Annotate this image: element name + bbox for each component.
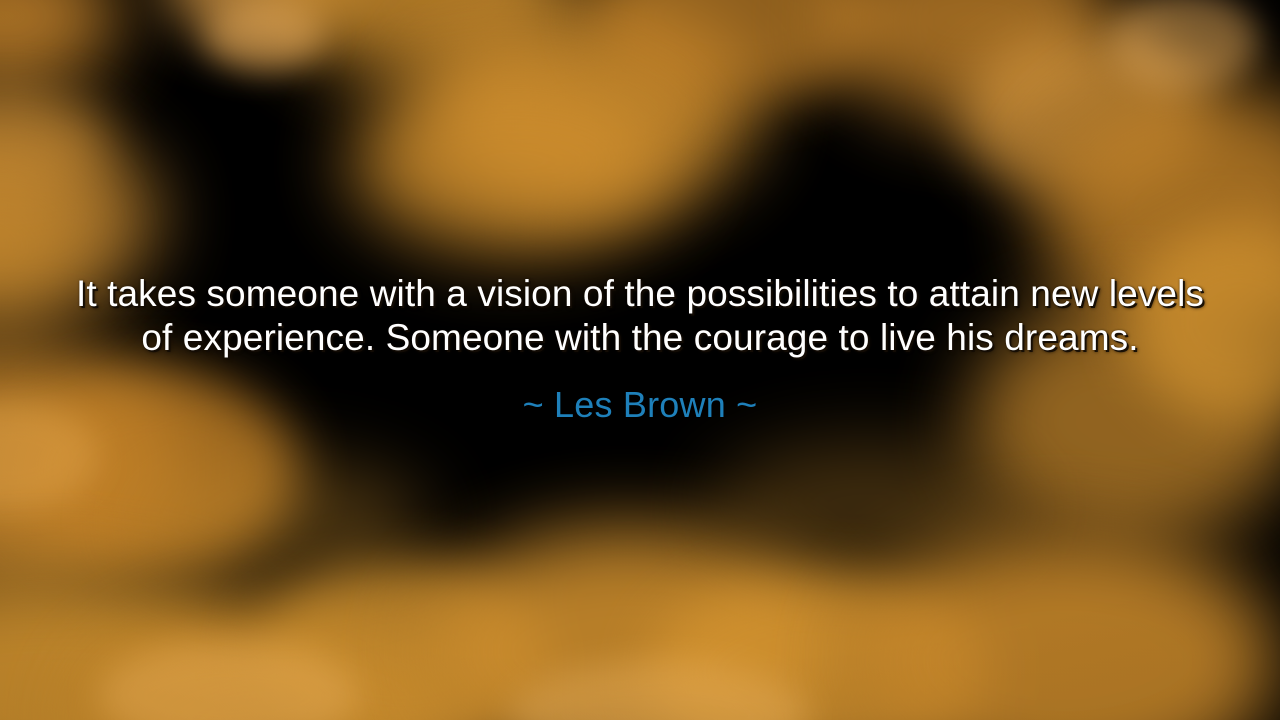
cloud-shape	[204, 1, 324, 71]
quote-block: It takes someone with a vision of the po…	[0, 272, 1280, 426]
cloud-shape	[0, 0, 119, 91]
cloud-shape	[709, 441, 1029, 571]
quote-text: It takes someone with a vision of the po…	[75, 272, 1205, 360]
cloud-shape	[129, 461, 429, 581]
quote-slide: It takes someone with a vision of the po…	[0, 0, 1280, 720]
quote-attribution: ~ Les Brown ~	[38, 384, 1242, 426]
cloud-shape	[349, 71, 679, 251]
